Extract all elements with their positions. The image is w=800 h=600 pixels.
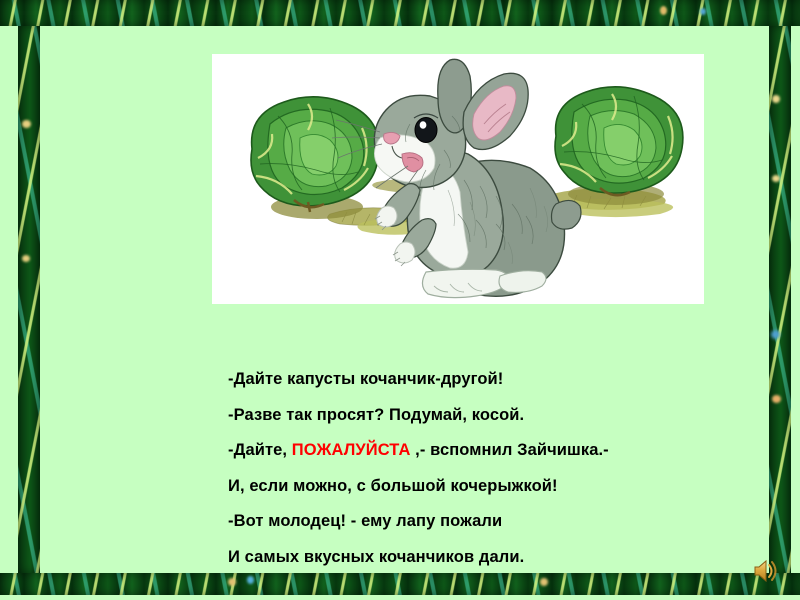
poem-line-3-before: -Дайте, bbox=[228, 441, 292, 459]
poem-line-2: -Разве так просят? Подумай, косой. bbox=[228, 398, 788, 434]
frame-border-left bbox=[18, 26, 40, 573]
illustration-canvas bbox=[212, 54, 704, 304]
poem-line-6: И самых вкусных кочанчиков дали. bbox=[228, 540, 788, 576]
poem-line-5: -Вот молодец! - ему лапу пожали bbox=[228, 504, 788, 540]
slide-root: -Дайте капусты кочанчик-другой! -Разве т… bbox=[0, 0, 800, 600]
poem-line-3: -Дайте, ПОЖАЛУЙСТА ,- вспомнил Зайчишка.… bbox=[228, 433, 788, 469]
poem-line-1: -Дайте капусты кочанчик-другой! bbox=[228, 362, 788, 398]
poem-highlight-word: ПОЖАЛУЙСТА bbox=[292, 441, 411, 459]
poem-text-block: -Дайте капусты кочанчик-другой! -Разве т… bbox=[228, 362, 788, 575]
frame-border-bottom bbox=[0, 573, 800, 595]
slide-content-area: -Дайте капусты кочанчик-другой! -Разве т… bbox=[40, 26, 769, 573]
speaker-icon-glyph bbox=[752, 558, 780, 584]
rabbit-and-cabbages-illustration bbox=[212, 54, 704, 304]
poem-line-4: И, если можно, с большой кочерыжкой! bbox=[228, 469, 788, 505]
frame-border-top bbox=[0, 0, 800, 26]
poem-line-3-after: ,- вспомнил Зайчишка.- bbox=[410, 441, 608, 459]
speaker-icon[interactable] bbox=[752, 558, 780, 584]
